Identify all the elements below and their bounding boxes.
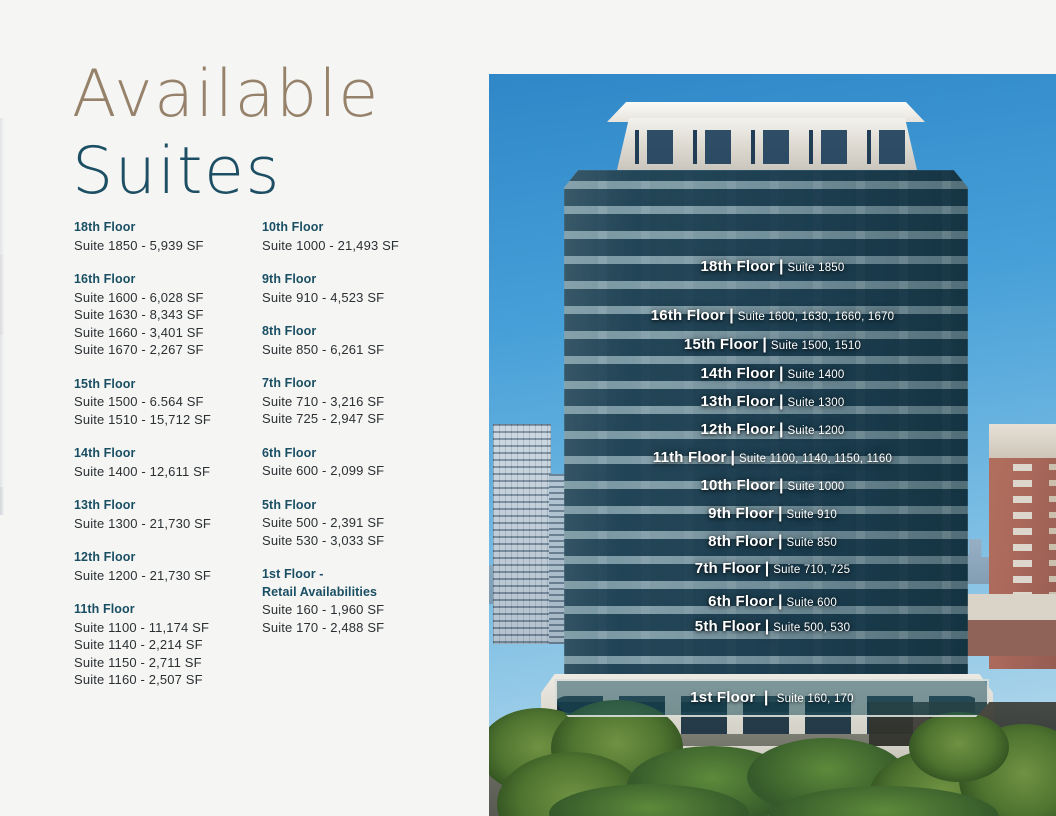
floor-group-heading: 9th Floor xyxy=(262,271,452,289)
suite-line: Suite 1000 - 21,493 SF xyxy=(262,237,452,255)
suite-line: Suite 850 - 6,261 SF xyxy=(262,341,452,359)
floor-group: 15th FloorSuite 1500 - 6.564 SFSuite 151… xyxy=(74,376,254,429)
tower-floor-suites: Suite 710, 725 xyxy=(773,564,850,576)
floor-group: 11th FloorSuite 1100 - 11,174 SFSuite 11… xyxy=(74,601,254,689)
tower-floor-label: 13th Floor|Suite 1300 xyxy=(489,393,1056,411)
tower-floor-name: 8th Floor xyxy=(708,533,774,550)
tower-floor-name: 6th Floor xyxy=(708,593,774,610)
label-separator: | xyxy=(775,477,787,494)
tower-floor-suites: Suite 850 xyxy=(787,537,837,549)
tower-floor-label: 15th Floor|Suite 1500, 1510 xyxy=(489,336,1056,354)
floor-group: 9th FloorSuite 910 - 4,523 SF xyxy=(262,271,452,306)
tower-floor-label: 14th Floor|Suite 1400 xyxy=(489,365,1056,383)
ground-floor-label: 1st Floor | Suite 160, 170 xyxy=(557,689,987,707)
floor-group-heading: 8th Floor xyxy=(262,323,452,341)
tower-floor-label: 6th Floor|Suite 600 xyxy=(489,593,1056,611)
floor-group-heading: 14th Floor xyxy=(74,445,254,463)
label-separator: | xyxy=(760,689,772,706)
tower-floor-label: 7th Floor|Suite 710, 725 xyxy=(489,560,1056,578)
tower-floor-label: 16th Floor|Suite 1600, 1630, 1660, 1670 xyxy=(489,307,1056,325)
tower-floor-label: 5th Floor|Suite 500, 530 xyxy=(489,618,1056,636)
label-separator: | xyxy=(775,393,787,410)
suite-line: Suite 1630 - 8,343 SF xyxy=(74,306,254,324)
tower-floor-label: 8th Floor|Suite 850 xyxy=(489,533,1056,551)
floor-group: 13th FloorSuite 1300 - 21,730 SF xyxy=(74,497,254,532)
suite-line: Suite 910 - 4,523 SF xyxy=(262,289,452,307)
tower-floor-label: 9th Floor|Suite 910 xyxy=(489,505,1056,523)
tower-floor-suites: Suite 1200 xyxy=(788,425,845,437)
page-root: Available Suites 18th FloorSuite 1850 - … xyxy=(0,0,1056,816)
page-edge-sliver-tertiary xyxy=(0,487,4,515)
suite-line: Suite 170 - 2,488 SF xyxy=(262,619,452,637)
tower-floor-suites: Suite 1100, 1140, 1150, 1160 xyxy=(739,453,892,465)
ground-floor-suites: Suite 160, 170 xyxy=(777,693,854,705)
tower-floor-name: 18th Floor xyxy=(701,258,776,275)
suite-line: Suite 725 - 2,947 SF xyxy=(262,410,452,428)
tower-floor-label: 12th Floor|Suite 1200 xyxy=(489,421,1056,439)
suite-line: Suite 1600 - 6,028 SF xyxy=(74,289,254,307)
floor-group: 8th FloorSuite 850 - 6,261 SF xyxy=(262,323,452,358)
label-separator: | xyxy=(774,593,786,610)
tower-floor-name: 11th Floor xyxy=(653,449,727,466)
suite-line: Suite 500 - 2,391 SF xyxy=(262,514,452,532)
page-title-line-available: Available xyxy=(72,62,380,127)
page-title-line-suites: Suites xyxy=(72,139,380,204)
floor-group-heading: 15th Floor xyxy=(74,376,254,394)
floor-group-heading: 7th Floor xyxy=(262,375,452,393)
suite-line: Suite 710 - 3,216 SF xyxy=(262,393,452,411)
floor-group-heading: 6th Floor xyxy=(262,445,452,463)
suite-line: Suite 1510 - 15,712 SF xyxy=(74,411,254,429)
tower-floor-suites: Suite 1500, 1510 xyxy=(771,340,861,352)
ground-floor-band: 1st Floor | Suite 160, 170 xyxy=(555,679,989,717)
tower-floor-name: 12th Floor xyxy=(701,421,776,438)
label-separator: | xyxy=(774,505,786,522)
label-separator: | xyxy=(725,307,737,324)
floor-group-heading: 12th Floor xyxy=(74,549,254,567)
page-edge-sliver-secondary xyxy=(0,255,4,335)
suite-line: Suite 1140 - 2,214 SF xyxy=(74,636,254,654)
tower-floor-suites: Suite 1400 xyxy=(788,369,845,381)
tower-floor-suites: Suite 1600, 1630, 1660, 1670 xyxy=(738,311,895,323)
suite-line: Suite 1300 - 21,730 SF xyxy=(74,515,254,533)
tower-floor-name: 16th Floor xyxy=(651,307,726,324)
label-separator: | xyxy=(761,618,773,635)
suite-line: Suite 1660 - 3,401 SF xyxy=(74,324,254,342)
suite-line: Suite 1850 - 5,939 SF xyxy=(74,237,254,255)
label-separator: | xyxy=(775,421,787,438)
suite-line: Suite 1500 - 6.564 SF xyxy=(74,393,254,411)
tower-floor-name: 9th Floor xyxy=(708,505,774,522)
floor-group-heading: 11th Floor xyxy=(74,601,254,619)
label-separator: | xyxy=(775,258,787,275)
suite-line: Suite 1100 - 11,174 SF xyxy=(74,619,254,637)
suite-line: Suite 1670 - 2,267 SF xyxy=(74,341,254,359)
label-separator: | xyxy=(775,365,787,382)
floor-group: 12th FloorSuite 1200 - 21,730 SF xyxy=(74,549,254,584)
floor-group-heading: 5th Floor xyxy=(262,497,452,515)
floor-group: 10th FloorSuite 1000 - 21,493 SF xyxy=(262,219,452,254)
suite-line: Suite 1150 - 2,711 SF xyxy=(74,654,254,672)
floor-group-heading: 18th Floor xyxy=(74,219,254,237)
label-separator: | xyxy=(774,533,786,550)
suite-line: Suite 1160 - 2,507 SF xyxy=(74,671,254,689)
suite-line: Suite 1400 - 12,611 SF xyxy=(74,463,254,481)
ground-floor-name: 1st Floor xyxy=(690,689,755,706)
page-title: Available Suites xyxy=(72,62,380,204)
floor-group: 14th FloorSuite 1400 - 12,611 SF xyxy=(74,445,254,480)
tower-floor-name: 13th Floor xyxy=(701,393,776,410)
floor-group: 1st Floor - Retail AvailabilitiesSuite 1… xyxy=(262,566,452,636)
tower-floor-suites: Suite 600 xyxy=(787,597,837,609)
tower-floor-name: 10th Floor xyxy=(701,477,776,494)
suite-list-column-right: 10th FloorSuite 1000 - 21,493 SF9th Floo… xyxy=(262,219,452,636)
floor-group-heading: 16th Floor xyxy=(74,271,254,289)
tower-floor-label: 10th Floor|Suite 1000 xyxy=(489,477,1056,495)
floor-group-heading: 10th Floor xyxy=(262,219,452,237)
label-separator: | xyxy=(761,560,773,577)
floor-group: 18th FloorSuite 1850 - 5,939 SF xyxy=(74,219,254,254)
suite-line: Suite 600 - 2,099 SF xyxy=(262,462,452,480)
floor-group-heading: 1st Floor - Retail Availabilities xyxy=(262,566,452,601)
label-separator: | xyxy=(758,336,770,353)
floor-group: 7th FloorSuite 710 - 3,216 SFSuite 725 -… xyxy=(262,375,452,428)
building-photo: 18th Floor|Suite 185016th Floor|Suite 16… xyxy=(489,74,1056,816)
floor-group: 16th FloorSuite 1600 - 6,028 SFSuite 163… xyxy=(74,271,254,359)
floor-group: 5th FloorSuite 500 - 2,391 SFSuite 530 -… xyxy=(262,497,452,550)
tower-floor-label: 18th Floor|Suite 1850 xyxy=(489,258,1056,276)
suite-line: Suite 1200 - 21,730 SF xyxy=(74,567,254,585)
tower-floor-suites: Suite 1000 xyxy=(788,481,845,493)
tower-floor-name: 5th Floor xyxy=(695,618,761,635)
tower-floor-suites: Suite 910 xyxy=(787,509,837,521)
floor-group-heading: 13th Floor xyxy=(74,497,254,515)
tower-floor-name: 15th Floor xyxy=(684,336,759,353)
tower-floor-label: 11th Floor|Suite 1100, 1140, 1150, 1160 xyxy=(489,449,1056,467)
suite-line: Suite 530 - 3,033 SF xyxy=(262,532,452,550)
tower-floor-name: 7th Floor xyxy=(695,560,761,577)
tower-floor-name: 14th Floor xyxy=(701,365,776,382)
tower-floor-suites: Suite 1300 xyxy=(788,397,845,409)
tower-floor-suites: Suite 500, 530 xyxy=(773,622,850,634)
suite-list-column-left: 18th FloorSuite 1850 - 5,939 SF16th Floo… xyxy=(74,219,254,689)
label-separator: | xyxy=(727,449,739,466)
floor-group: 6th FloorSuite 600 - 2,099 SF xyxy=(262,445,452,480)
tower-floor-suites: Suite 1850 xyxy=(788,262,845,274)
suite-line: Suite 160 - 1,960 SF xyxy=(262,601,452,619)
